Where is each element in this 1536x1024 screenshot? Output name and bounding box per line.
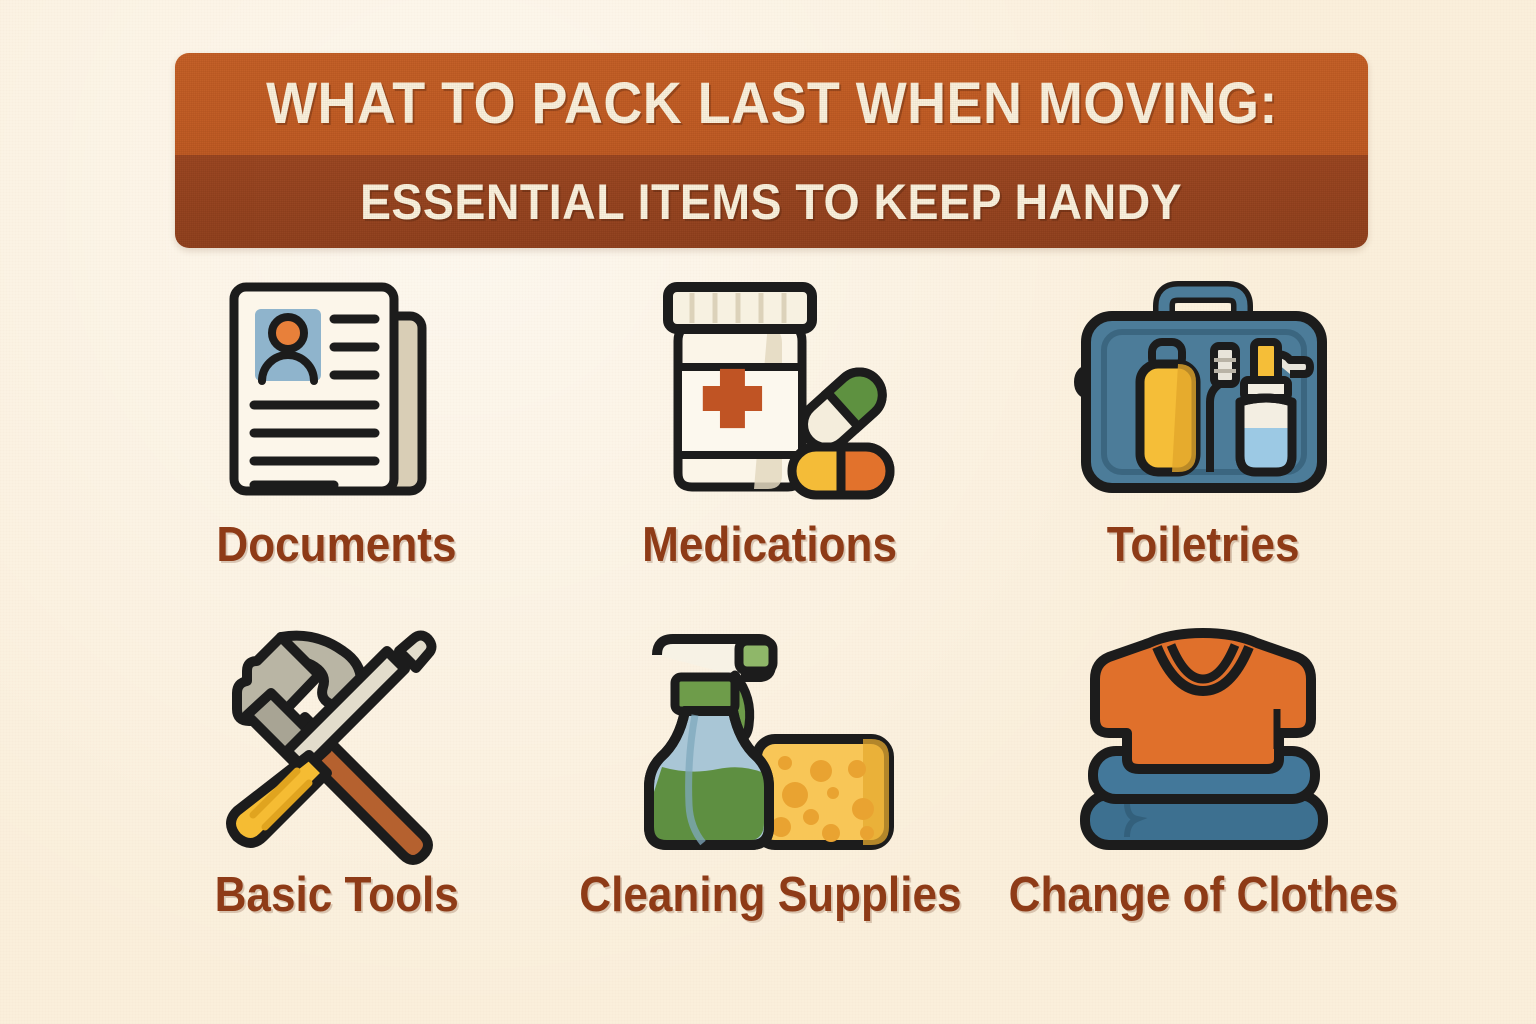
toiletry-bag-icon: [1068, 276, 1338, 506]
folded-tshirt: [1095, 633, 1311, 769]
spray-bottle: [644, 639, 773, 845]
poster-title-line-1: WHAT TO PACK LAST WHEN MOVING:: [266, 75, 1278, 133]
documents-icon-wrap: [212, 268, 462, 513]
capsule-yellow-orange: [792, 447, 890, 495]
spray-collar: [675, 677, 735, 711]
infographic-poster: WHAT TO PACK LAST WHEN MOVING: ESSENTIAL…: [0, 0, 1536, 1024]
id-photo-head: [272, 317, 304, 349]
medications-icon-wrap: [640, 268, 900, 513]
items-grid: Documents: [120, 268, 1420, 968]
title-banner-bottom-band: ESSENTIAL ITEMS TO KEEP HANDY: [175, 155, 1368, 248]
grid-item-toiletries[interactable]: Toiletries: [987, 268, 1420, 618]
cleaning-icon-wrap: [635, 618, 905, 863]
sponge: [757, 739, 889, 845]
grid-item-cleaning-supplies[interactable]: Cleaning Supplies: [553, 618, 986, 968]
label-change-of-clothes: Change of Clothes: [1009, 869, 1399, 921]
grid-item-medications[interactable]: Medications: [553, 268, 986, 618]
clothes-icon-wrap: [1071, 618, 1336, 863]
folded-clothes-icon: [1071, 623, 1336, 858]
toiletries-icon-wrap: [1068, 268, 1338, 513]
screwdriver-handle: [231, 755, 327, 843]
label-basic-tools: Basic Tools: [215, 869, 459, 921]
title-banner-top-band: WHAT TO PACK LAST WHEN MOVING:: [175, 53, 1368, 155]
title-banner: WHAT TO PACK LAST WHEN MOVING: ESSENTIAL…: [175, 53, 1368, 248]
basic-tools-icon-wrap: [209, 618, 464, 863]
label-medications: Medications: [643, 519, 898, 571]
pill-bottle-icon: [640, 271, 900, 511]
toiletry-tube: [1214, 346, 1236, 384]
id-photo-shoulders: [262, 355, 314, 381]
documents-icon: [212, 271, 462, 511]
label-toiletries: Toiletries: [1107, 519, 1300, 571]
grid-item-documents[interactable]: Documents: [120, 268, 553, 618]
spray-bottle-sponge-icon: [635, 621, 905, 861]
label-documents: Documents: [217, 519, 457, 571]
spray-trigger-cap: [739, 641, 773, 671]
label-cleaning-supplies: Cleaning Supplies: [579, 869, 961, 921]
grid-item-basic-tools[interactable]: Basic Tools: [120, 618, 553, 968]
grid-item-change-of-clothes[interactable]: Change of Clothes: [987, 618, 1420, 968]
poster-title-line-2: ESSENTIAL ITEMS TO KEEP HANDY: [360, 177, 1182, 227]
spray-liquid: [644, 767, 764, 841]
hammer-screwdriver-icon: [209, 621, 464, 861]
